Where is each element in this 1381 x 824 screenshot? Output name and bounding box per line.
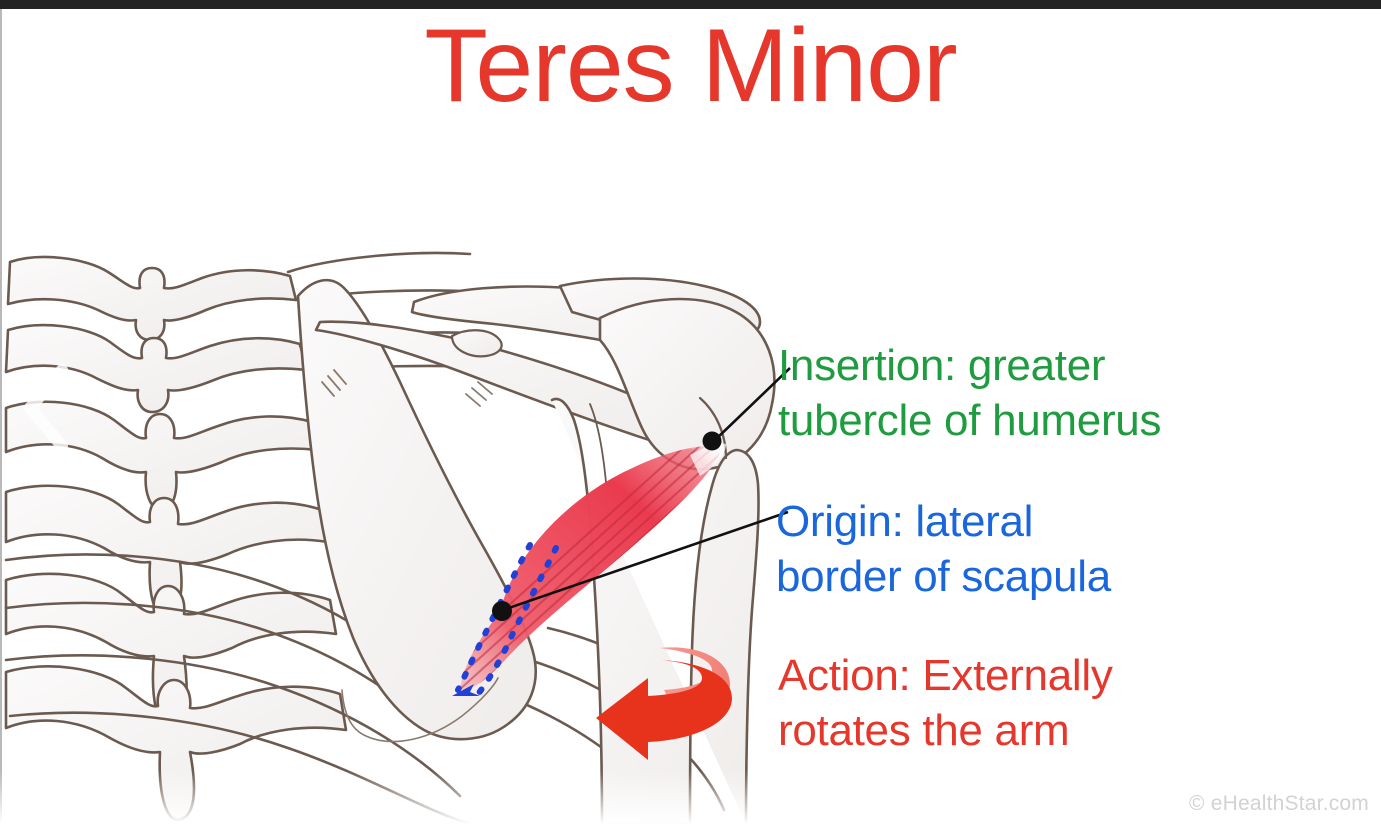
cervical-vertebrae — [6, 257, 346, 820]
next-slide-button[interactable] — [1300, 360, 1364, 456]
annotation-action: Action: Externally rotates the arm — [778, 648, 1113, 759]
copyright-watermark: © eHealthStar.com — [1189, 792, 1369, 816]
chevron-left-icon — [16, 360, 80, 456]
bottom-fade — [0, 770, 1381, 824]
origin-dot — [492, 601, 512, 621]
annotation-origin: Origin: lateral border of scapula — [776, 494, 1111, 605]
slide-viewer: Teres Minor Insertion: greater tubercle … — [0, 0, 1381, 824]
insertion-dot — [703, 432, 722, 451]
page-title: Teres Minor — [0, 14, 1381, 118]
annotation-insertion: Insertion: greater tubercle of humerus — [778, 338, 1161, 449]
prev-slide-button[interactable] — [16, 360, 80, 456]
chevron-right-icon — [1300, 360, 1364, 456]
humeral-head — [600, 299, 774, 469]
